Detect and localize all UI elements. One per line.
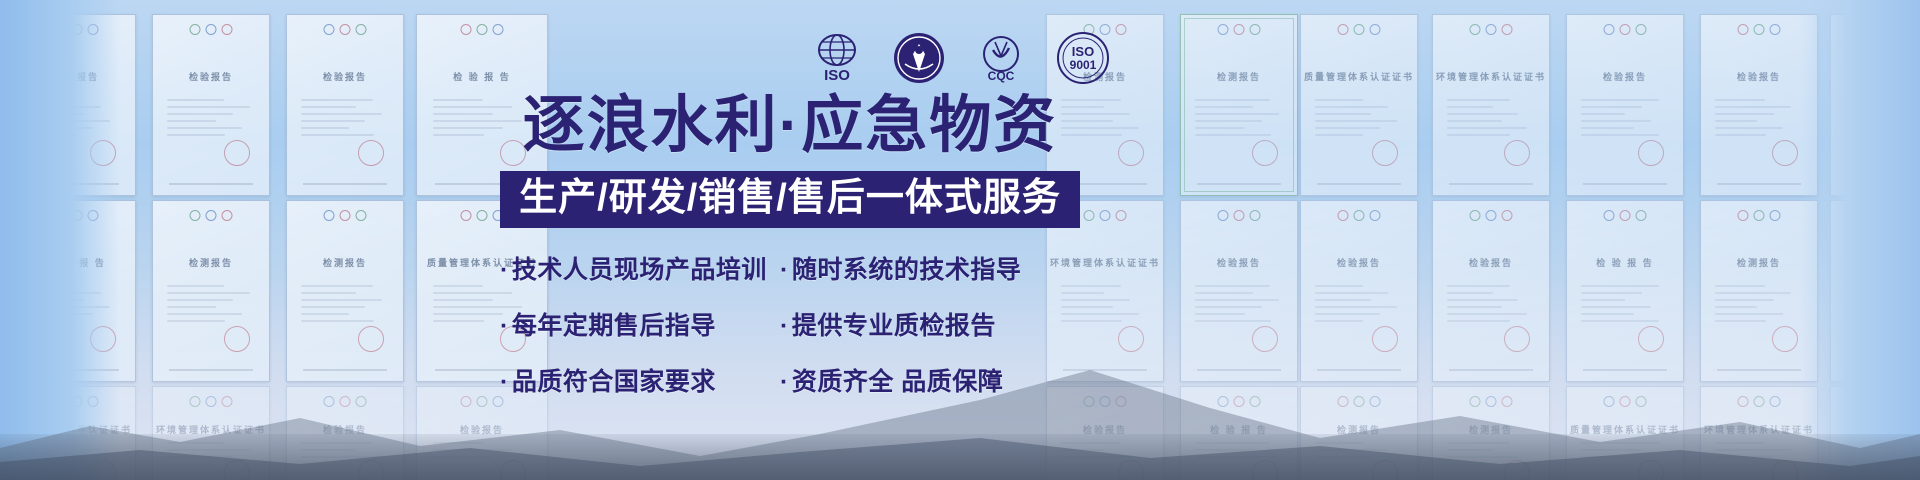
certificate-title: 检测报告 bbox=[1831, 256, 1920, 269]
promo-banner: 检验报告检验报告检验报告检 验 报 告检测报告检测报告质量管理体系认证证书环境管… bbox=[0, 0, 1920, 480]
feature-item: ·提供专业质检报告 bbox=[780, 306, 1080, 342]
feature-item: ·随时系统的技术指导 bbox=[780, 250, 1080, 286]
feature-list: ·技术人员现场产品培训·随时系统的技术指导·每年定期售后指导·提供专业质检报告·… bbox=[500, 250, 1080, 398]
certificate-title: 检 验 报 告 bbox=[417, 70, 547, 83]
bullet-dot-icon: · bbox=[500, 312, 509, 340]
certificate-text-lines bbox=[1843, 99, 1918, 141]
certificate-footer-line bbox=[35, 183, 119, 185]
certificate-text-lines bbox=[1843, 285, 1918, 327]
certificate-title: 检验报告 bbox=[1701, 70, 1817, 83]
certificate-logo-row bbox=[190, 24, 233, 35]
certificate-text-lines bbox=[167, 285, 255, 327]
certificate-thumbnail: 检验报告 bbox=[1700, 14, 1818, 196]
bullet-dot-icon: · bbox=[780, 256, 789, 284]
feature-item: ·技术人员现场产品培训 bbox=[500, 250, 772, 286]
certificate-text-lines bbox=[33, 99, 121, 141]
certificate-title: 检测报告 bbox=[1181, 70, 1297, 83]
certificate-title: 环境管理体系认证证书 bbox=[1433, 70, 1549, 83]
cqc-badge: CQC bbox=[973, 30, 1029, 86]
certificate-thumbnail: 检验报告 bbox=[286, 14, 404, 196]
feature-item-label: 提供专业质检报告 bbox=[792, 312, 996, 340]
certificate-logo-row bbox=[190, 210, 233, 221]
certificate-text-lines bbox=[301, 99, 389, 141]
bullet-dot-icon: · bbox=[780, 312, 789, 340]
iso-9001-badge: ISO 9001 bbox=[1055, 30, 1111, 86]
certificate-thumbnail: 检测报告 bbox=[1180, 14, 1298, 196]
certificate-seal-icon bbox=[1504, 140, 1530, 166]
certificate-text-lines bbox=[167, 99, 255, 141]
quality-seal-badge bbox=[891, 30, 947, 86]
certificate-thumbnail: 质量管理体系认证证书 bbox=[1300, 14, 1418, 196]
certificate-seal-icon bbox=[358, 140, 384, 166]
certificate-logo-row bbox=[1084, 210, 1127, 221]
banner-text-block: 逐浪水利·应急物资 生产/研发/销售/售后一体式服务 ·技术人员现场产品培训·随… bbox=[500, 95, 1080, 398]
certificate-title: 检验报告 bbox=[1181, 256, 1297, 269]
certificate-title: 检测报告 bbox=[1701, 256, 1817, 269]
certificate-logo-row bbox=[1738, 24, 1781, 35]
certificate-text-lines bbox=[1581, 285, 1669, 327]
feature-item-label: 随时系统的技术指导 bbox=[792, 256, 1022, 284]
feature-item-label: 每年定期售后指导 bbox=[512, 312, 716, 340]
certificate-logo-row bbox=[1859, 24, 1902, 35]
certificate-footer-line bbox=[1449, 183, 1533, 185]
certificate-logo-row bbox=[1218, 24, 1261, 35]
certificate-title: 检 验 报 告 bbox=[19, 256, 135, 269]
certificate-logo-row bbox=[1738, 210, 1781, 221]
certificate-logo-row bbox=[461, 24, 504, 35]
certificate-thumbnail: 环境管理体系认证证书 bbox=[1432, 14, 1550, 196]
certificate-text-lines bbox=[1715, 285, 1803, 327]
feature-item: ·资质齐全 品质保障 bbox=[780, 362, 1080, 398]
certificate-footer-line bbox=[1317, 183, 1401, 185]
tree-line-silhouette bbox=[0, 434, 1920, 480]
feature-item-label: 资质齐全 品质保障 bbox=[792, 368, 1003, 396]
certificate-seal-icon bbox=[1638, 140, 1664, 166]
svg-text:CQC: CQC bbox=[988, 69, 1015, 83]
certificate-title: 检测报告 bbox=[287, 256, 403, 269]
certificate-thumbnail: 检验报告 bbox=[1566, 14, 1684, 196]
certificate-text-lines bbox=[1315, 99, 1403, 141]
certificate-footer-line bbox=[303, 183, 387, 185]
certificate-text-lines bbox=[33, 285, 121, 327]
certificate-logo-row bbox=[56, 210, 99, 221]
certificate-text-lines bbox=[301, 285, 389, 327]
certificate-logo-row bbox=[324, 210, 367, 221]
certificate-logo-row bbox=[1470, 24, 1513, 35]
svg-text:ISO: ISO bbox=[1072, 44, 1094, 59]
certificate-logo-row bbox=[1859, 210, 1902, 221]
certificate-thumbnail: 检验报告 bbox=[152, 14, 270, 196]
certificate-thumbnail: 检验报告 bbox=[1830, 14, 1920, 196]
certificate-text-lines bbox=[1195, 285, 1283, 327]
certificate-title: 质量管理体系认证证书 bbox=[1301, 70, 1417, 83]
certificate-title: 检验报告 bbox=[1301, 256, 1417, 269]
bullet-dot-icon: · bbox=[780, 368, 789, 396]
certificate-seal-icon bbox=[224, 140, 250, 166]
certificate-seal-icon bbox=[1772, 140, 1798, 166]
certificate-title: 检验报告 bbox=[1831, 70, 1920, 83]
certificate-title: 检验报告 bbox=[153, 70, 269, 83]
certificate-text-lines bbox=[1195, 99, 1283, 141]
bullet-dot-icon: · bbox=[500, 368, 509, 396]
certificate-title: 检 验 报 告 bbox=[1567, 256, 1683, 269]
certificate-text-lines bbox=[1447, 285, 1535, 327]
feature-item-label: 技术人员现场产品培训 bbox=[512, 256, 767, 284]
certificate-seal-icon bbox=[90, 140, 116, 166]
certificate-footer-line bbox=[169, 183, 253, 185]
feature-item-label: 品质符合国家要求 bbox=[512, 368, 716, 396]
certificate-logo-row bbox=[1604, 210, 1647, 221]
certificate-logo-row bbox=[1218, 210, 1261, 221]
certificate-logo-row bbox=[1338, 24, 1381, 35]
certificate-footer-line bbox=[1845, 183, 1916, 185]
certificate-title: 检测报告 bbox=[153, 256, 269, 269]
certificate-logo-row bbox=[461, 210, 504, 221]
svg-text:9001: 9001 bbox=[1070, 58, 1097, 72]
certificate-text-lines bbox=[1715, 99, 1803, 141]
certificate-footer-line bbox=[1717, 183, 1801, 185]
certificate-seal-icon bbox=[1118, 140, 1144, 166]
certificate-thumbnail: 检验报告 bbox=[18, 14, 136, 196]
certificate-logo-row bbox=[1338, 210, 1381, 221]
certificate-footer-line bbox=[1583, 183, 1667, 185]
subtitle-bar: 生产/研发/销售/售后一体式服务 bbox=[500, 171, 1080, 228]
main-title: 逐浪水利·应急物资 bbox=[500, 95, 1080, 157]
feature-item: ·品质符合国家要求 bbox=[500, 362, 772, 398]
certificate-text-lines bbox=[1315, 285, 1403, 327]
certificate-title: 检验报告 bbox=[1567, 70, 1683, 83]
certification-badges: ISO CQC ISO 90 bbox=[809, 30, 1111, 86]
certificate-logo-row bbox=[324, 24, 367, 35]
certificate-title: 检验报告 bbox=[1433, 256, 1549, 269]
certificate-footer-line bbox=[1197, 183, 1281, 185]
feature-item: ·每年定期售后指导 bbox=[500, 306, 772, 342]
certificate-text-lines bbox=[1581, 99, 1669, 141]
certificate-text-lines bbox=[1447, 99, 1535, 141]
certificate-seal-icon bbox=[1887, 140, 1913, 166]
certificate-logo-row bbox=[1470, 210, 1513, 221]
certificate-logo-row bbox=[1604, 24, 1647, 35]
certificate-logo-row bbox=[56, 24, 99, 35]
certificate-title: 检验报告 bbox=[19, 70, 135, 83]
iso-badge: ISO bbox=[809, 30, 865, 86]
certificate-seal-icon bbox=[1372, 140, 1398, 166]
certificate-title: 检验报告 bbox=[287, 70, 403, 83]
bullet-dot-icon: · bbox=[500, 256, 509, 284]
svg-text:ISO: ISO bbox=[824, 67, 850, 84]
